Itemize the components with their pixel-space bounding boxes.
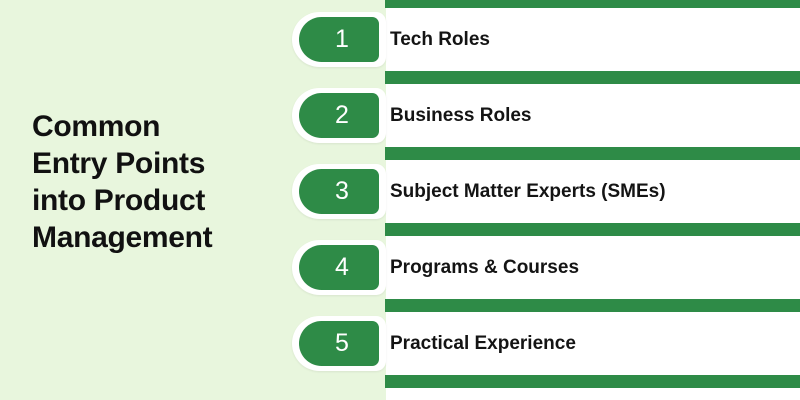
number-badge: 5: [299, 321, 379, 366]
number-badge-label: 2: [329, 103, 349, 128]
separator-bar-top: [385, 0, 800, 8]
number-badge: 1: [299, 17, 379, 62]
separator-bar-bottom: [385, 375, 800, 388]
infographic-canvas: Common Entry Points into Product Managem…: [0, 0, 800, 400]
list-item[interactable]: 2 Business Roles: [0, 84, 800, 147]
separator-bar-3: [385, 223, 800, 236]
number-badge-label: 3: [329, 179, 349, 204]
list-item-label: Programs & Courses: [390, 236, 579, 299]
number-badge: 4: [299, 245, 379, 290]
number-badge: 2: [299, 93, 379, 138]
number-badge-label: 4: [329, 255, 349, 280]
list-item-label: Tech Roles: [390, 8, 490, 71]
list-item[interactable]: 1 Tech Roles: [0, 8, 800, 71]
list-item-label: Practical Experience: [390, 312, 576, 375]
list-item-label: Business Roles: [390, 84, 532, 147]
separator-bar-4: [385, 299, 800, 312]
list-item[interactable]: 5 Practical Experience: [0, 312, 800, 375]
list-item[interactable]: 3 Subject Matter Experts (SMEs): [0, 160, 800, 223]
number-badge: 3: [299, 169, 379, 214]
number-badge-label: 1: [329, 27, 349, 52]
separator-bar-2: [385, 147, 800, 160]
number-badge-label: 5: [329, 331, 349, 356]
list-item-label: Subject Matter Experts (SMEs): [390, 160, 666, 223]
separator-bar-1: [385, 71, 800, 84]
list-item[interactable]: 4 Programs & Courses: [0, 236, 800, 299]
